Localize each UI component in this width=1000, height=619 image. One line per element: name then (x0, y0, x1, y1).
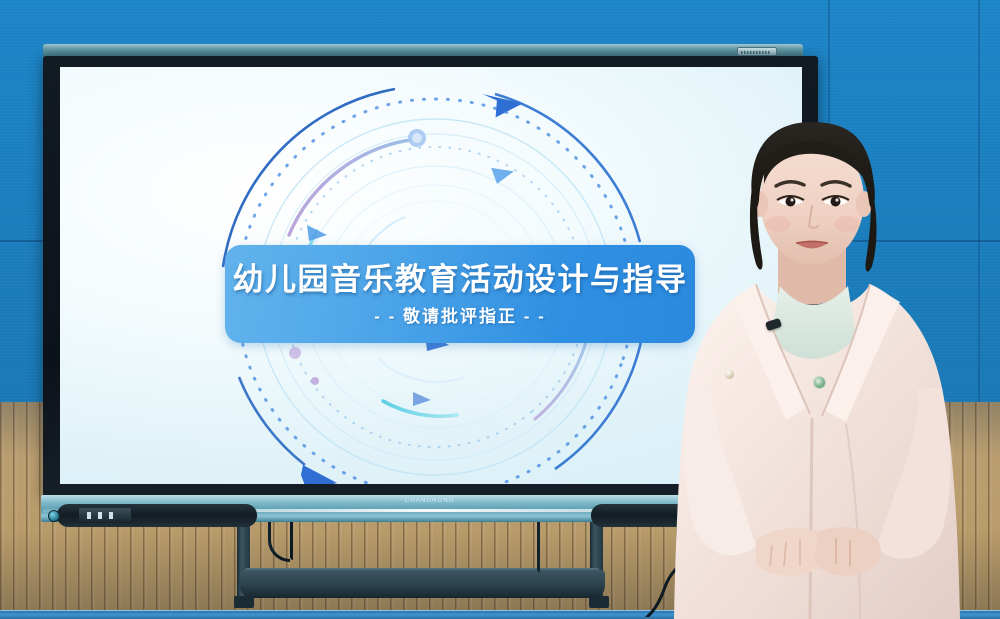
slide-subtitle: - - 敬请批评指正 - - (374, 308, 546, 325)
camera-module-icon (737, 47, 777, 56)
lapel-pin-icon (725, 370, 734, 379)
stand-foot-right (589, 596, 609, 608)
display-brand-label: CHANGHONG (405, 498, 455, 504)
scene-root: 幼儿园音乐教育活动设计与指导 - - 敬请批评指正 - - CHANGHONG (0, 0, 1000, 619)
brooch-icon (813, 376, 826, 389)
presenter (660, 88, 1000, 619)
slide-title: 幼儿园音乐教育活动设计与指导 (233, 264, 688, 295)
presenter-figure (660, 88, 1000, 619)
stand-foot-left (234, 596, 254, 608)
stand-shelf (240, 570, 605, 598)
usb-ports-icon[interactable] (79, 508, 131, 523)
power-button-icon[interactable] (48, 510, 60, 522)
slide-title-band: 幼儿园音乐教育活动设计与指导 - - 敬请批评指正 - - (225, 245, 695, 343)
